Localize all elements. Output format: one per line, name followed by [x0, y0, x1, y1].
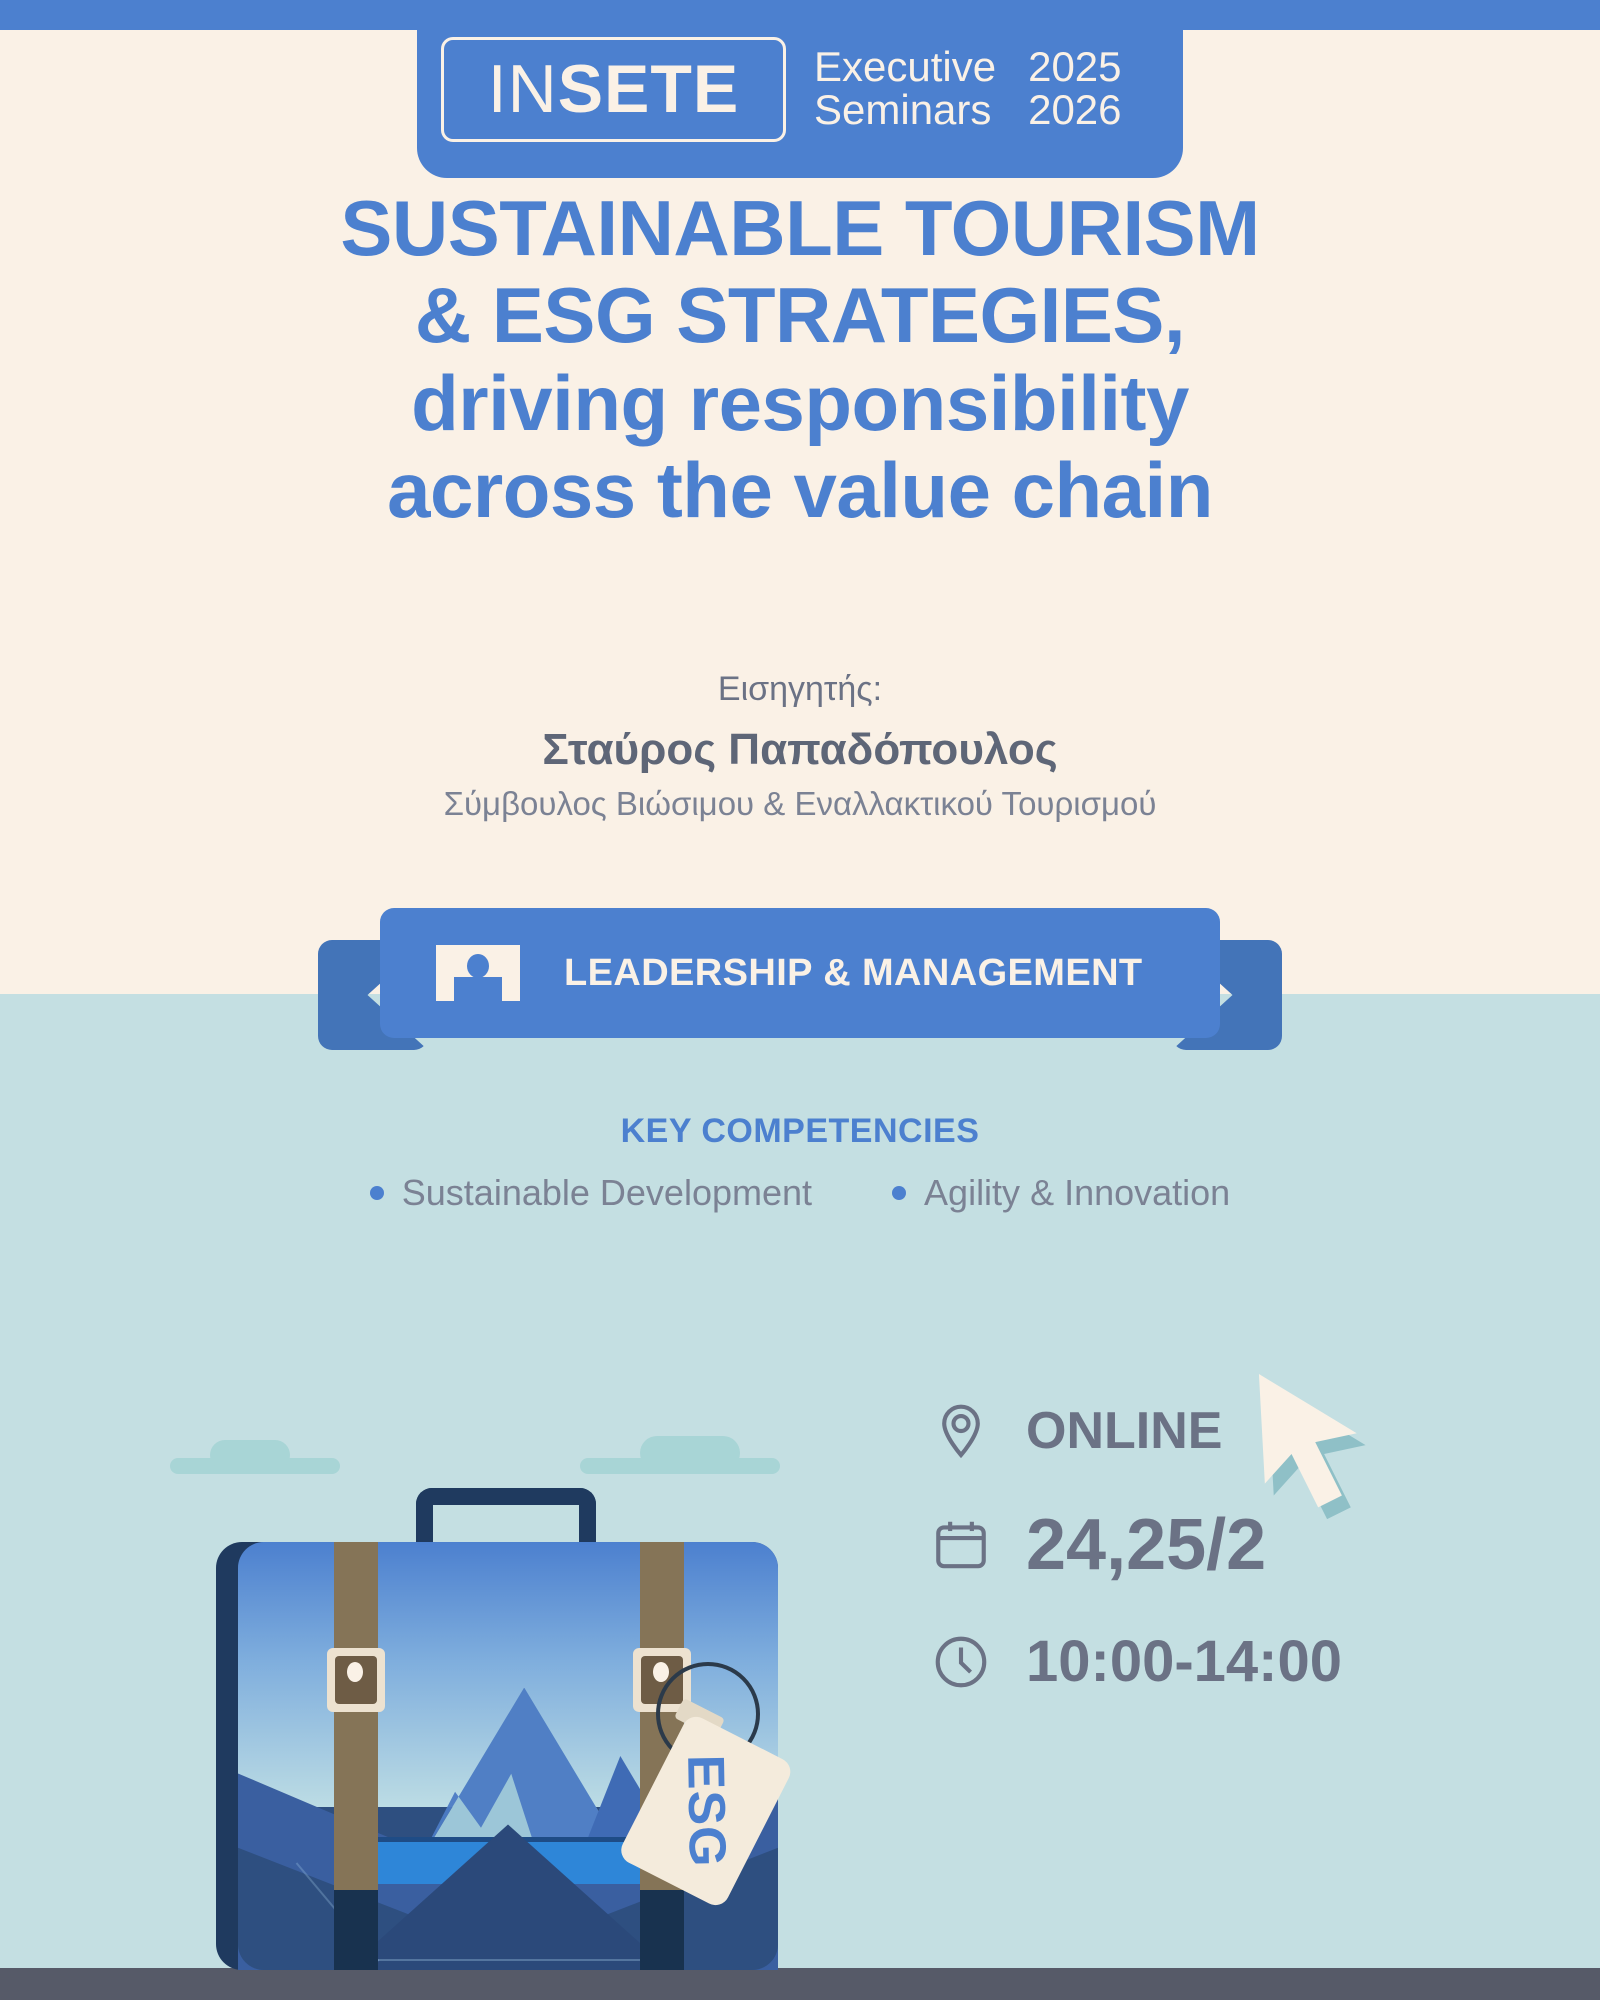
- list-item: Sustainable Development: [370, 1172, 812, 1214]
- suitcase-handle: [416, 1488, 596, 1550]
- competency-label: Agility & Innovation: [924, 1172, 1230, 1214]
- key-competencies-title: KEY COMPETENCIES: [0, 1112, 1600, 1151]
- cloud-shape: [210, 1440, 290, 1470]
- speaker-role: Σύμβουλος Βιώσιμου & Εναλλακτικού Τουρισ…: [0, 785, 1600, 823]
- date-value: 24,25/2: [1026, 1504, 1266, 1586]
- suitcase-buckle-left: [327, 1648, 385, 1712]
- calendar-icon: [930, 1514, 992, 1576]
- page-title: SUSTAINABLE TOURISM & ESG STRATEGIES, dr…: [0, 185, 1600, 534]
- arrow-cursor-icon: [1258, 1374, 1408, 1534]
- list-item: Agility & Innovation: [892, 1172, 1230, 1214]
- clock-icon: [930, 1631, 992, 1693]
- ribbon-body: LEADERSHIP & MANAGEMENT: [380, 908, 1220, 1038]
- presenter-icon: [436, 945, 520, 1001]
- header-banner: INSETE Executive Seminars 2025 2026: [417, 0, 1183, 178]
- seminar-poster: INSETE Executive Seminars 2025 2026 SUST…: [0, 0, 1600, 2000]
- speaker-name: Σταύρος Παπαδόπουλος: [0, 725, 1600, 775]
- header-year-end: 2026: [1028, 89, 1121, 132]
- title-line-4: across the value chain: [0, 447, 1600, 534]
- logo-prefix: IN: [488, 51, 558, 127]
- key-competencies-list: Sustainable Development Agility & Innova…: [0, 1172, 1600, 1214]
- suitcase-strap-foot-right: [640, 1890, 684, 1970]
- insete-logo: INSETE: [441, 37, 786, 142]
- time-value: 10:00-14:00: [1026, 1628, 1342, 1695]
- category-ribbon: LEADERSHIP & MANAGEMENT: [318, 908, 1282, 1078]
- speaker-label: Εισηγητής:: [0, 670, 1600, 709]
- title-line-1: SUSTAINABLE TOURISM: [0, 185, 1600, 272]
- ribbon-label: LEADERSHIP & MANAGEMENT: [564, 952, 1143, 995]
- location-value: ONLINE: [1026, 1401, 1222, 1461]
- header-year-start: 2025: [1028, 46, 1121, 89]
- competency-label: Sustainable Development: [402, 1172, 812, 1214]
- speaker-block: Εισηγητής: Σταύρος Παπαδόπουλος Σύμβουλο…: [0, 670, 1600, 823]
- title-line-3: driving responsibility: [0, 360, 1600, 447]
- suitcase-illustration: ESG: [150, 1420, 830, 2000]
- bullet-icon: [370, 1186, 384, 1200]
- header-line-seminars: Seminars: [814, 89, 996, 132]
- luggage-tag-label: ESG: [675, 1754, 737, 1868]
- header-subtitle-group: Executive Seminars 2025 2026: [814, 46, 1122, 132]
- suitcase-seam: [373, 1959, 643, 1961]
- cloud-shape: [640, 1436, 740, 1470]
- logo-suffix: SETE: [558, 51, 740, 127]
- header-line-executive: Executive: [814, 46, 996, 89]
- detail-row-time: 10:00-14:00: [930, 1628, 1342, 1695]
- suitcase-strap-foot-left: [334, 1890, 378, 1970]
- bullet-icon: [892, 1186, 906, 1200]
- title-line-2: & ESG STRATEGIES,: [0, 272, 1600, 359]
- location-pin-icon: [930, 1400, 992, 1462]
